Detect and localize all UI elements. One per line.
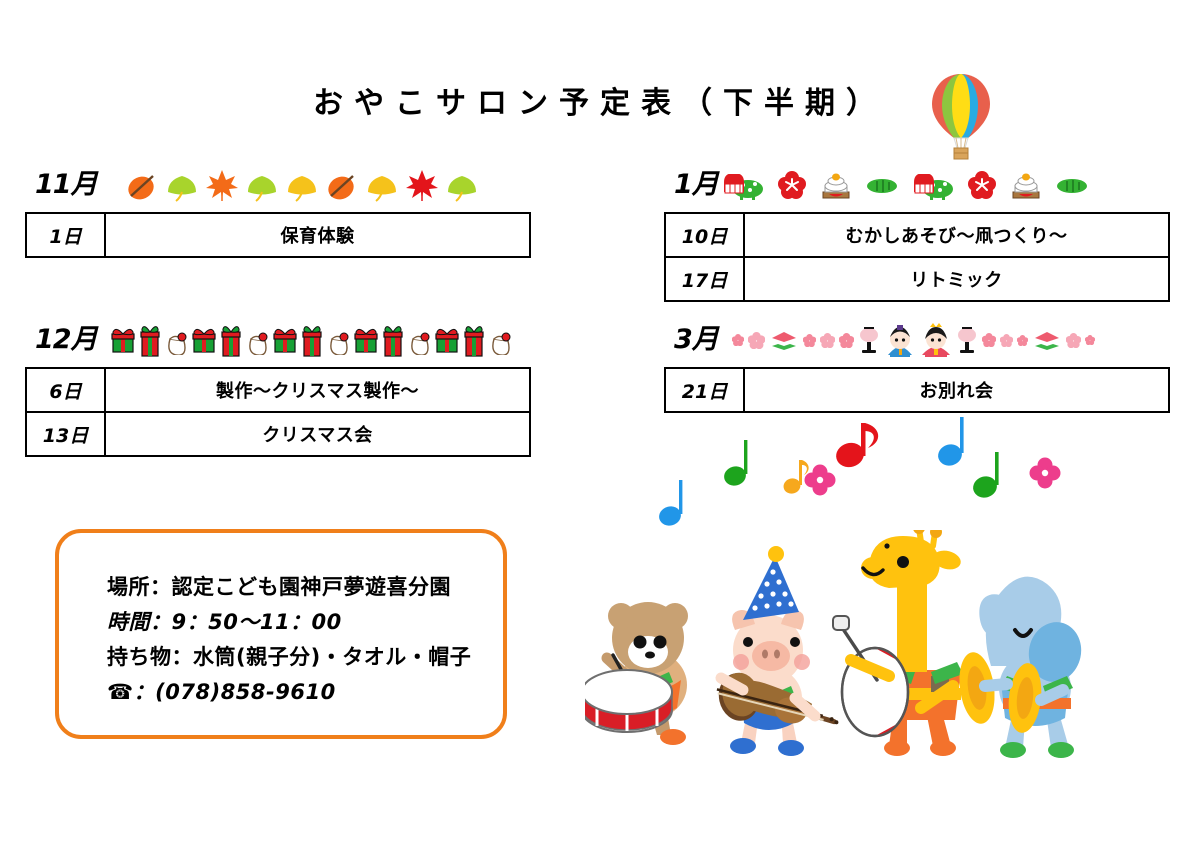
bonbori-icon xyxy=(858,326,880,354)
gift-box-tall-icon xyxy=(301,323,323,357)
table-row: 13日 クリスマス会 xyxy=(26,412,530,456)
event-cell: リトミック xyxy=(744,257,1169,301)
table-row: 21日 お別れ会 xyxy=(665,368,1169,412)
schedule-table-march: 21日 お別れ会 xyxy=(664,367,1170,413)
event-cell: 製作～クリスマス製作～ xyxy=(105,368,530,412)
animal-band-icon xyxy=(585,530,1105,770)
kadomatsu-icon xyxy=(1056,174,1088,196)
acorn-leaf-icon xyxy=(325,168,359,202)
christmas-gift-icon xyxy=(110,321,540,359)
table-row: 1日 保育体験 xyxy=(26,213,530,257)
gift-box-tall-icon xyxy=(382,323,404,357)
hina-emperor-icon xyxy=(884,323,916,357)
day-cell: 17日 xyxy=(665,257,744,301)
schedule-table-january: 10日 むかしあそび～凧つくり～ 17日 リトミック xyxy=(664,212,1170,302)
info-box: 場所：認定こども園神戸夢遊喜分園 時間：9：50～11：00 持ち物：水筒(親子… xyxy=(55,529,507,739)
month-header-march: 3月 xyxy=(664,323,1170,367)
schedule-table-november: 1日 保育体験 xyxy=(25,212,531,258)
autumn-leaves-icon xyxy=(125,166,525,204)
ginkgo-leaf-icon xyxy=(365,168,399,202)
event-cell: お別れ会 xyxy=(744,368,1169,412)
month-label-january: 1月 xyxy=(674,168,718,202)
santa-sack-icon xyxy=(326,325,350,355)
table-row: 17日 リトミック xyxy=(665,257,1169,301)
month-label-november: 11月 xyxy=(35,168,97,202)
month-block-december: 12月 6日 製作～クリスマス製作～ 13日 クリスマス会 xyxy=(25,323,531,457)
info-bring: 持ち物：水筒(親子分)・タオル・帽子 xyxy=(107,640,471,675)
gift-box-icon xyxy=(110,325,136,355)
sakura-icon xyxy=(982,333,996,347)
shishimai-icon xyxy=(912,170,954,200)
month-header-december: 12月 xyxy=(25,323,531,367)
hot-air-balloon-icon xyxy=(930,72,992,162)
bonbori-icon xyxy=(956,326,978,354)
sakura-icon xyxy=(1000,334,1013,347)
day-cell: 13日 xyxy=(26,412,105,456)
info-time: 時間：9：50～11：00 xyxy=(107,605,471,640)
gift-box-icon xyxy=(272,325,298,355)
sakura-icon xyxy=(732,334,744,346)
music-note-icon xyxy=(620,415,1090,545)
santa-sack-icon xyxy=(488,325,512,355)
gift-box-icon xyxy=(353,325,379,355)
ginkgo-leaf-icon xyxy=(285,168,319,202)
maple-leaf-icon xyxy=(405,168,439,202)
table-row: 6日 製作～クリスマス製作～ xyxy=(26,368,530,412)
event-cell: 保育体験 xyxy=(105,213,530,257)
schedule-table-december: 6日 製作～クリスマス製作～ 13日 クリスマス会 xyxy=(25,367,531,457)
acorn-leaf-icon xyxy=(125,168,159,202)
gift-box-tall-icon xyxy=(220,323,242,357)
maple-leaf-icon xyxy=(205,168,239,202)
event-cell: むかしあそび～凧つくり～ xyxy=(744,213,1169,257)
sakura-icon xyxy=(803,334,816,347)
gift-box-tall-icon xyxy=(463,323,485,357)
info-phone: ☎：(078)858-9610 xyxy=(107,675,471,710)
santa-sack-icon xyxy=(407,325,431,355)
month-label-march: 3月 xyxy=(674,323,718,357)
gift-box-tall-icon xyxy=(139,323,161,357)
new-year-shishimai-icon xyxy=(722,166,1162,204)
gift-box-icon xyxy=(191,325,217,355)
sakura-icon xyxy=(820,333,835,348)
day-cell: 1日 xyxy=(26,213,105,257)
shishimai-icon xyxy=(722,170,764,200)
sakura-icon xyxy=(1066,333,1081,348)
month-header-january: 1月 xyxy=(664,168,1170,212)
kagami-mochi-icon xyxy=(820,170,852,200)
month-block-march: 3月 21日 お別れ会 xyxy=(664,323,1170,413)
sakura-icon xyxy=(748,332,765,349)
month-label-december: 12月 xyxy=(35,323,97,357)
hina-empress-icon xyxy=(920,323,952,357)
sakura-icon xyxy=(1017,335,1028,346)
day-cell: 21日 xyxy=(665,368,744,412)
month-header-november: 11月 xyxy=(25,168,531,212)
santa-sack-icon xyxy=(245,325,269,355)
hishimochi-icon xyxy=(769,328,799,352)
kagami-mochi-icon xyxy=(1010,170,1042,200)
ginkgo-leaf-icon xyxy=(445,168,479,202)
gift-box-icon xyxy=(434,325,460,355)
kadomatsu-icon xyxy=(866,174,898,196)
plum-blossom-icon xyxy=(778,171,806,199)
page-title: おやこサロン予定表（下半期） xyxy=(0,78,1200,122)
ginkgo-leaf-icon xyxy=(245,168,279,202)
month-block-january: 1月 10日 むかしあそび～凧つくり～ 17日 リトミック xyxy=(664,168,1170,302)
sakura-icon xyxy=(839,333,854,348)
day-cell: 10日 xyxy=(665,213,744,257)
santa-sack-icon xyxy=(164,325,188,355)
hishimochi-icon xyxy=(1032,328,1062,352)
day-cell: 6日 xyxy=(26,368,105,412)
info-place: 場所：認定こども園神戸夢遊喜分園 xyxy=(107,570,471,605)
month-block-november: 11月 1日 保育体験 xyxy=(25,168,531,258)
sakura-icon xyxy=(1085,335,1095,345)
info-lines: 場所：認定こども園神戸夢遊喜分園 時間：9：50～11：00 持ち物：水筒(親子… xyxy=(107,570,471,710)
ginkgo-leaf-icon xyxy=(165,168,199,202)
event-cell: クリスマス会 xyxy=(105,412,530,456)
poster-page: おやこサロン予定表（下半期） 11月 xyxy=(0,0,1200,849)
hina-doll-icon xyxy=(732,321,1164,359)
table-row: 10日 むかしあそび～凧つくり～ xyxy=(665,213,1169,257)
plum-blossom-icon xyxy=(968,171,996,199)
